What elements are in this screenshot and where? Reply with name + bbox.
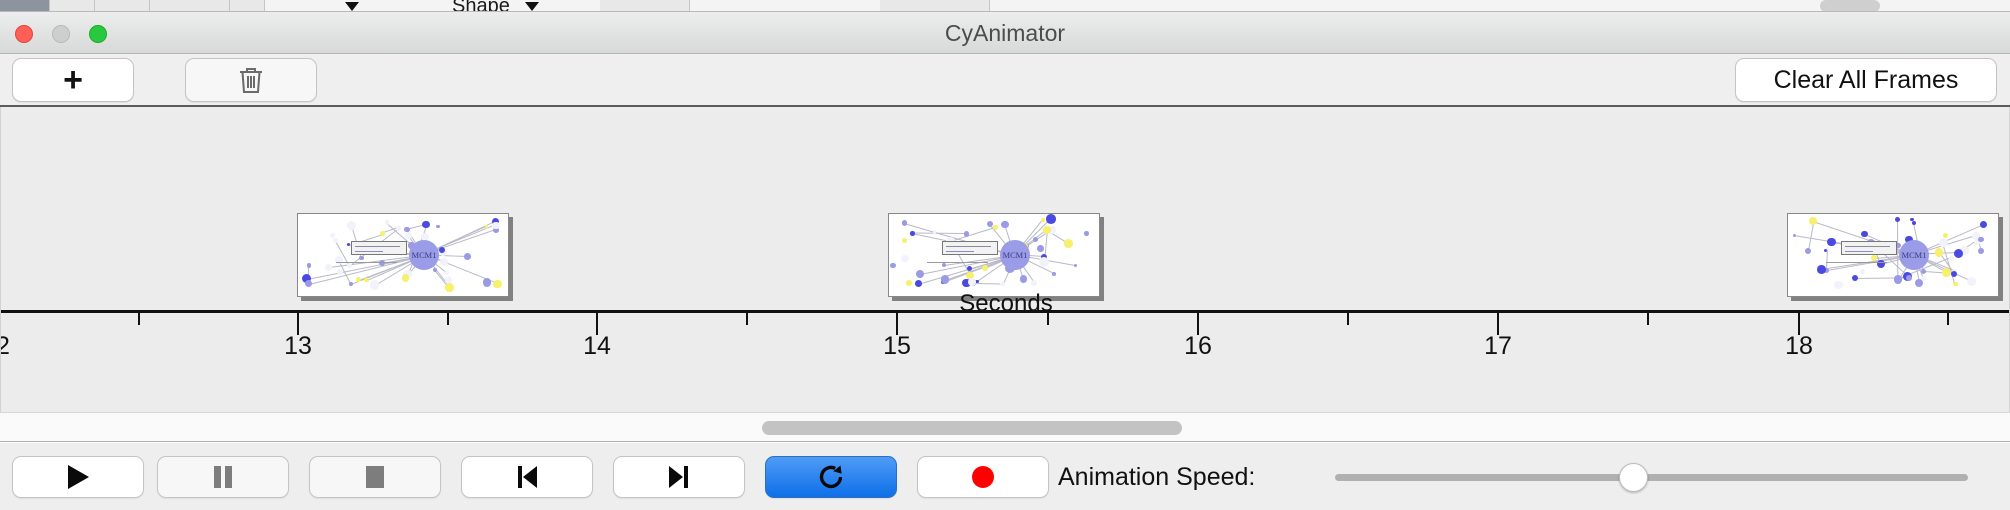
graph-node — [1921, 269, 1926, 274]
graph-node — [1031, 280, 1037, 286]
graph-node — [347, 263, 352, 268]
graph-node — [1084, 231, 1089, 236]
timeline-scrollbar[interactable] — [0, 412, 2010, 442]
bg-tab-3 — [95, 0, 150, 12]
background-window-label: Shape — [452, 0, 510, 12]
graph-node — [330, 233, 335, 238]
timeline-scrollbar-thumb[interactable] — [762, 421, 1182, 435]
play-button[interactable] — [12, 456, 144, 498]
caret-down-icon — [525, 2, 539, 11]
axis-title: Seconds — [1, 290, 2010, 318]
tick-label: 14 — [567, 332, 627, 361]
graph-node — [1834, 281, 1843, 290]
bg-tab-5 — [230, 0, 265, 12]
graph-node — [349, 282, 353, 286]
graph-hub-node: MCM1 — [1000, 240, 1031, 271]
graph-node — [1037, 245, 1044, 252]
graph-edge — [1942, 243, 1955, 284]
graph-node — [347, 221, 356, 230]
graph-node — [1033, 237, 1038, 242]
annotation-text-line — [1845, 251, 1873, 252]
frame-thumbnail-2[interactable]: MCM1 — [888, 213, 1100, 297]
clear-all-frames-label: Clear All Frames — [1774, 66, 1959, 95]
graph-node — [307, 263, 312, 268]
graph-node — [1943, 233, 1948, 238]
graph-node — [1001, 221, 1009, 229]
animation-speed-slider[interactable] — [1335, 474, 1968, 481]
annotation-text-line — [355, 251, 383, 252]
graph-node — [1046, 214, 1056, 224]
record-button[interactable] — [917, 456, 1049, 498]
delete-frame-button[interactable] — [185, 58, 317, 102]
graph-node — [1861, 231, 1867, 237]
graph-node — [325, 264, 332, 271]
graph-node — [402, 274, 409, 281]
graph-node — [1000, 282, 1004, 286]
graph-node — [1827, 238, 1835, 246]
network-graph: MCM1 — [889, 214, 1099, 296]
window-title: CyAnimator — [0, 12, 2010, 54]
tick-label: 18 — [1769, 332, 1829, 361]
graph-node — [1043, 226, 1051, 234]
graph-caption-line — [927, 262, 988, 263]
skip-to-end-button[interactable] — [613, 456, 745, 498]
graph-node — [1895, 217, 1900, 222]
graph-node — [1939, 238, 1948, 247]
timeline-panel[interactable]: MCM1 MCM1 MCM1 12131415161718 Seconds — [0, 107, 2010, 412]
annotation-text-line — [946, 246, 991, 247]
graph-node — [464, 253, 472, 261]
clear-all-frames-button[interactable]: Clear All Frames — [1735, 58, 1997, 102]
graph-annotation-box — [942, 241, 999, 255]
animation-speed-label: Animation Speed: — [1058, 456, 1255, 498]
graph-node — [1906, 275, 1912, 281]
graph-node — [902, 238, 907, 243]
graph-node — [1805, 248, 1811, 254]
playback-controls: Animation Speed: — [0, 443, 2010, 510]
graph-annotation-box — [1841, 241, 1898, 255]
skip-to-start-button[interactable] — [461, 456, 593, 498]
graph-node — [906, 280, 912, 286]
record-icon — [970, 464, 996, 490]
trash-icon — [237, 65, 265, 95]
graph-node — [941, 275, 950, 284]
graph-node — [1980, 221, 1987, 228]
background-window-strip: Shape — [0, 0, 2010, 12]
tick-label: 13 — [268, 332, 328, 361]
graph-node — [915, 280, 922, 287]
graph-node — [1912, 221, 1916, 225]
tick-label: 12 — [0, 332, 26, 361]
frame-thumbnail-3[interactable]: MCM1 — [1787, 213, 1999, 297]
graph-node — [1074, 264, 1077, 267]
graph-node — [444, 271, 449, 276]
graph-node — [492, 222, 500, 230]
network-graph: MCM1 — [298, 214, 508, 296]
graph-node — [1951, 271, 1957, 277]
graph-node — [1894, 275, 1903, 284]
graph-node — [385, 220, 390, 225]
graph-node — [964, 231, 969, 236]
graph-node — [1860, 269, 1866, 275]
graph-node — [356, 277, 361, 282]
graph-node — [916, 270, 924, 278]
graph-node — [1953, 282, 1957, 286]
graph-node — [305, 280, 312, 287]
animation-speed-slider-thumb[interactable] — [1619, 463, 1648, 492]
graph-node — [975, 280, 978, 283]
tick-label: 15 — [867, 332, 927, 361]
graph-node — [1978, 237, 1984, 243]
graph-node — [1921, 276, 1926, 281]
graph-node — [436, 225, 439, 228]
graph-edge — [1808, 221, 1814, 251]
graph-node — [942, 263, 946, 267]
tick-label: 16 — [1168, 332, 1228, 361]
bg-scrollbar[interactable] — [1820, 0, 1880, 12]
graph-node — [1967, 277, 1976, 286]
plus-icon: + — [63, 63, 83, 97]
graph-node — [1064, 239, 1073, 248]
title-bar: CyAnimator — [0, 12, 2010, 54]
graph-node — [396, 226, 401, 231]
graph-node — [404, 227, 409, 232]
annotation-text-line — [1845, 246, 1890, 247]
graph-node — [364, 278, 369, 283]
graph-hub-node: MCM1 — [409, 240, 440, 271]
graph-caption-line — [336, 262, 397, 263]
frame-thumbnail-1[interactable]: MCM1 — [297, 213, 509, 297]
graph-node — [1793, 234, 1796, 237]
graph-node — [1020, 275, 1028, 283]
graph-node — [1949, 256, 1953, 260]
graph-node — [968, 278, 976, 286]
graph-node — [1817, 265, 1826, 274]
graph-node — [493, 280, 501, 288]
top-toolbar: + Clear All Frames — [0, 54, 2010, 107]
annotation-text-line — [355, 246, 400, 247]
graph-node — [380, 231, 385, 236]
caret-down-icon — [345, 2, 359, 11]
graph-node — [1052, 272, 1056, 276]
graph-node — [1978, 248, 1984, 254]
bg-tab-7 — [880, 0, 990, 12]
add-frame-button[interactable]: + — [12, 58, 134, 102]
graph-node — [910, 231, 915, 236]
graph-node — [1809, 217, 1818, 226]
pause-icon — [211, 463, 235, 491]
graph-node — [1910, 218, 1913, 221]
pause-button[interactable] — [157, 456, 289, 498]
graph-node — [483, 278, 492, 287]
graph-node — [359, 256, 363, 260]
graph-node — [902, 220, 907, 225]
graph-edge — [950, 227, 995, 242]
stop-icon — [363, 463, 387, 491]
network-graph: MCM1 — [1788, 214, 1998, 296]
graph-node — [1877, 260, 1885, 268]
graph-node — [933, 230, 937, 234]
graph-caption-line — [1826, 262, 1887, 263]
graph-hub-node: MCM1 — [1899, 240, 1930, 271]
loop-button[interactable] — [765, 456, 897, 498]
graph-node — [1935, 248, 1943, 256]
bg-tab-6 — [600, 0, 690, 12]
graph-node — [370, 280, 380, 290]
graph-node — [993, 225, 998, 230]
tick-label: 17 — [1468, 332, 1528, 361]
graph-node — [1954, 249, 1964, 259]
graph-node — [422, 221, 430, 229]
stop-button[interactable] — [309, 456, 441, 498]
graph-node — [901, 255, 908, 262]
bg-tab-1 — [0, 0, 50, 12]
graph-node — [890, 263, 895, 268]
cyanimator-window: Shape CyAnimator + Clear All Frames — [0, 0, 2010, 510]
bg-tab-2 — [50, 0, 95, 12]
graph-node — [1871, 255, 1877, 261]
graph-node — [1852, 275, 1858, 281]
play-icon — [65, 463, 91, 491]
graph-node — [337, 269, 343, 275]
graph-node — [1041, 218, 1045, 222]
graph-node — [440, 258, 448, 266]
graph-node — [1942, 268, 1951, 277]
graph-node — [485, 225, 489, 229]
graph-node — [1039, 257, 1049, 267]
graph-annotation-box — [351, 241, 408, 255]
graph-edge — [972, 283, 1002, 285]
graph-node — [982, 265, 988, 271]
skip-back-icon — [515, 463, 539, 491]
bg-tab-4 — [150, 0, 230, 12]
annotation-text-line — [946, 251, 974, 252]
skip-forward-icon — [667, 463, 691, 491]
loop-icon — [816, 462, 846, 492]
